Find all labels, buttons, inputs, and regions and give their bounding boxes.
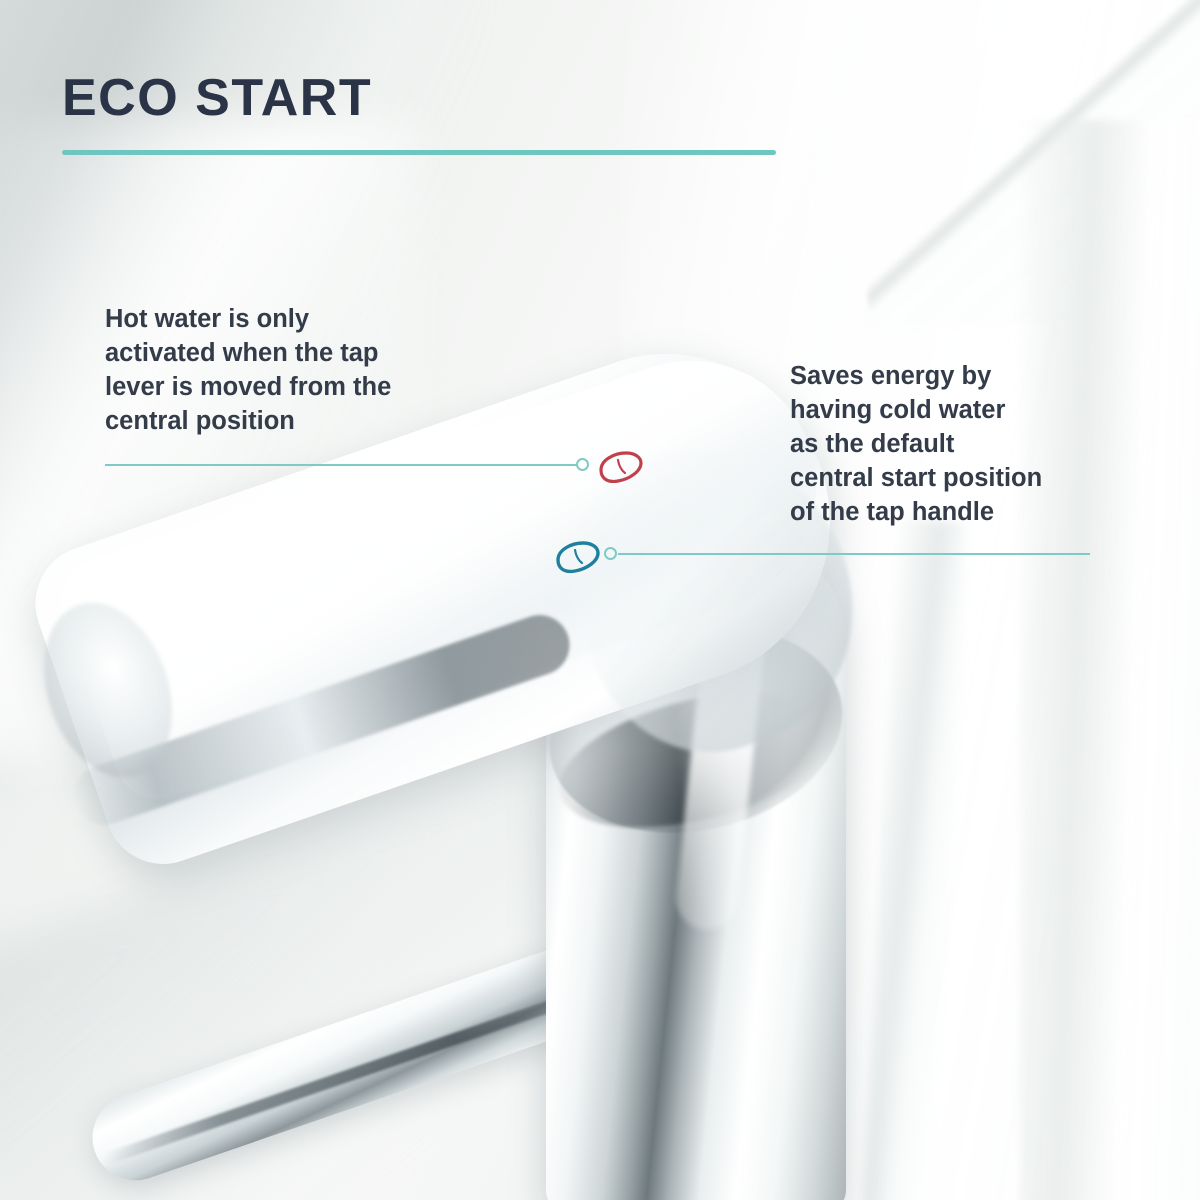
annotation-line: of the tap handle [790,496,1042,530]
infographic-canvas: ECO START Hot water is only activated wh… [0,0,1200,1200]
leader-endpoint-circle-left [576,458,589,471]
annotation-line: lever is moved from the [105,371,391,405]
annotation-line: Hot water is only [105,303,391,337]
hot-water-droplet-icon [592,448,644,486]
annotation-energy-saving-default: Saves energy by having cold water as the… [790,360,1042,530]
leader-endpoint-circle-right [604,547,617,560]
tap-photo-group [0,0,1200,1200]
annotation-line: having cold water [790,394,1042,428]
annotation-hot-water-activation: Hot water is only activated when the tap… [105,303,391,439]
page-title: ECO START [62,72,372,124]
leader-line-right [618,553,1090,555]
annotation-line: central start position [790,462,1042,496]
annotation-line: Saves energy by [790,360,1042,394]
title-underline-rule [62,150,776,155]
annotation-line: as the default [790,428,1042,462]
cold-water-droplet-icon [549,538,601,576]
annotation-line: central position [105,405,391,439]
annotation-line: activated when the tap [105,337,391,371]
leader-line-left [105,464,577,466]
